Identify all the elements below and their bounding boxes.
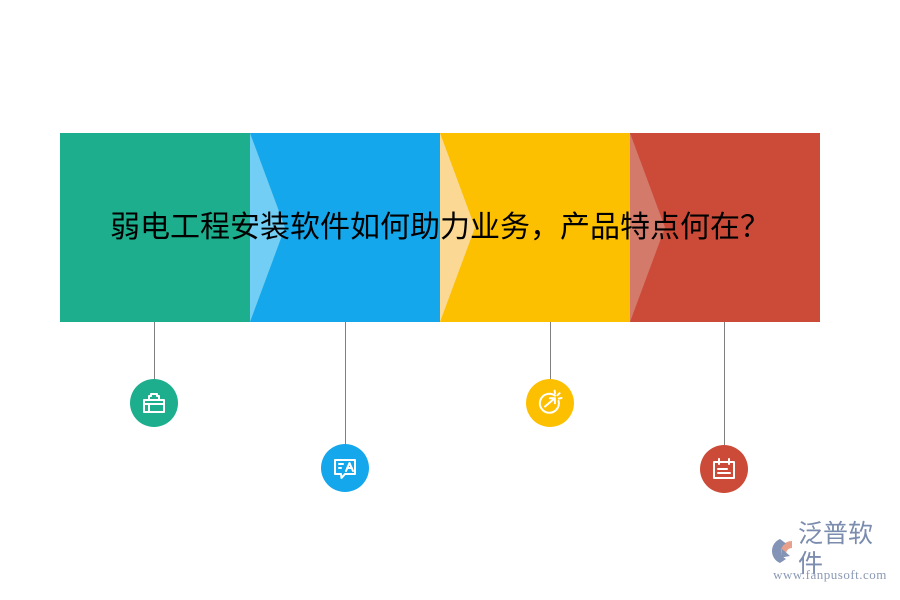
- connector-line-3: [550, 322, 551, 380]
- growth-arrow-circle-icon: [536, 389, 564, 417]
- logo-row: 泛普软件: [766, 534, 894, 566]
- brand-url: www.fanpusoft.com: [766, 567, 894, 583]
- calendar-note-icon: [710, 455, 738, 483]
- translate-chat-icon: [331, 454, 359, 482]
- brand-logo: 泛普软件 www.fanpusoft.com: [766, 534, 894, 584]
- node-translate-chat[interactable]: [321, 444, 369, 492]
- slide-canvas: 弱电工程安装软件如何助力业务，产品特点何在？: [0, 0, 900, 600]
- connector-line-2: [345, 322, 346, 449]
- connector-line-4: [724, 322, 725, 446]
- connector-line-1: [154, 322, 155, 384]
- node-calendar[interactable]: [700, 445, 748, 493]
- node-growth[interactable]: [526, 379, 574, 427]
- banner: 弱电工程安装软件如何助力业务，产品特点何在？: [60, 133, 820, 322]
- fanpu-logo-mark: [766, 535, 796, 565]
- storefront-icon: [140, 389, 168, 417]
- banner-title: 弱电工程安装软件如何助力业务，产品特点何在？: [60, 133, 820, 322]
- node-storefront[interactable]: [130, 379, 178, 427]
